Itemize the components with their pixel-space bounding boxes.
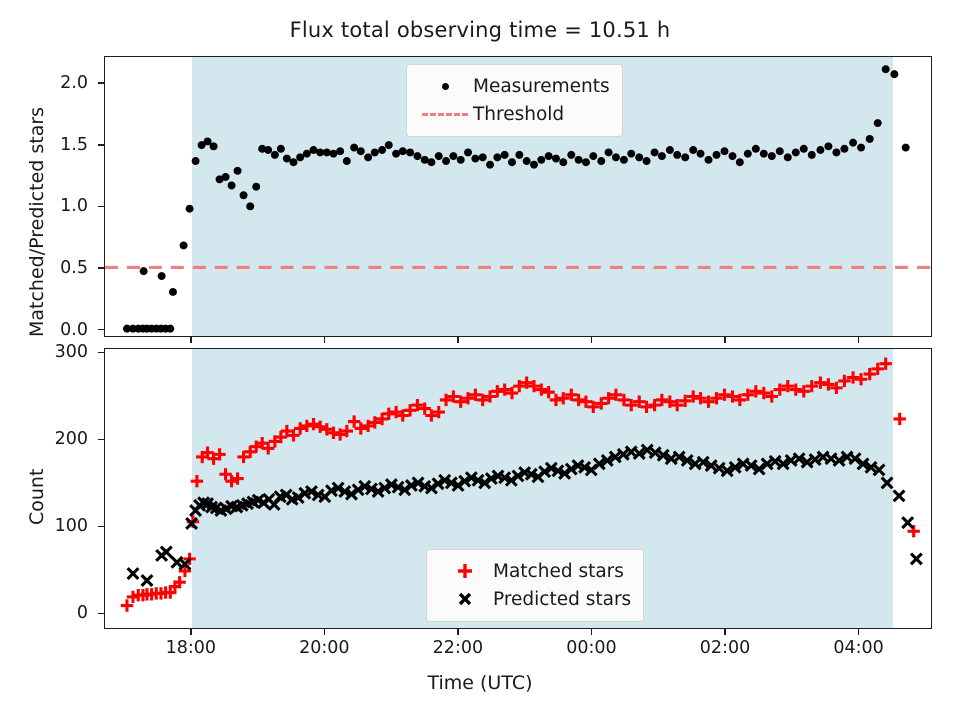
x-tick-label-0: 18:00 [166,638,216,658]
x-tick-mark-top-panel [591,337,593,343]
top-panel-legend[interactable]: Measurements Threshold [406,64,623,137]
legend-item-predicted-stars[interactable]: Predicted stars [437,585,631,613]
x-tick-label-2: 22:00 [433,638,483,658]
legend-item-measurements[interactable]: Measurements [417,72,610,100]
legend-label-matched-stars: Matched stars [493,561,624,582]
bottom-panel-y-tick-1: 100 [6,516,88,536]
top-panel-y-tick-0: 0.0 [6,320,88,340]
predicted-stars-marker-icon [437,589,493,609]
x-tick-mark-top-panel [457,337,459,343]
x-tick-mark-top-panel [858,337,860,343]
x-tick-mark [324,629,326,635]
threshold-marker-icon [417,113,473,116]
bottom-panel-y-tick-0: 0 [6,603,88,623]
measurements-marker-icon [417,83,473,90]
x-tick-label-3: 00:00 [566,638,616,658]
top-panel-y-tick-1: 0.5 [6,258,88,278]
matched-stars-marker-icon [437,561,493,581]
x-axis-label: Time (UTC) [0,672,960,694]
legend-item-matched-stars[interactable]: Matched stars [437,557,631,585]
x-tick-mark-top-panel [724,337,726,343]
x-tick-mark [190,629,192,635]
bottom-panel-legend[interactable]: Matched stars Predicted stars [426,549,644,622]
top-panel-y-tick-4: 2.0 [6,73,88,93]
x-tick-label-4: 02:00 [700,638,750,658]
bottom-panel-y-tick-3: 300 [6,342,88,362]
figure-canvas: Flux total observing time = 10.51 h Matc… [0,0,960,720]
x-tick-label-5: 04:00 [833,638,883,658]
legend-label-predicted-stars: Predicted stars [493,589,631,610]
x-tick-mark-top-panel [190,337,192,343]
top-panel-y-tick-3: 1.5 [6,135,88,155]
legend-item-threshold[interactable]: Threshold [417,100,610,128]
legend-label-measurements: Measurements [473,76,610,97]
x-tick-label-1: 20:00 [299,638,349,658]
x-tick-mark-top-panel [324,337,326,343]
legend-label-threshold: Threshold [473,104,564,125]
top-panel-y-tick-2: 1.0 [6,196,88,216]
figure-title: Flux total observing time = 10.51 h [0,18,960,42]
x-tick-mark [858,629,860,635]
x-tick-mark [591,629,593,635]
bottom-panel-y-tick-2: 200 [6,429,88,449]
x-tick-mark [724,629,726,635]
x-tick-mark [457,629,459,635]
